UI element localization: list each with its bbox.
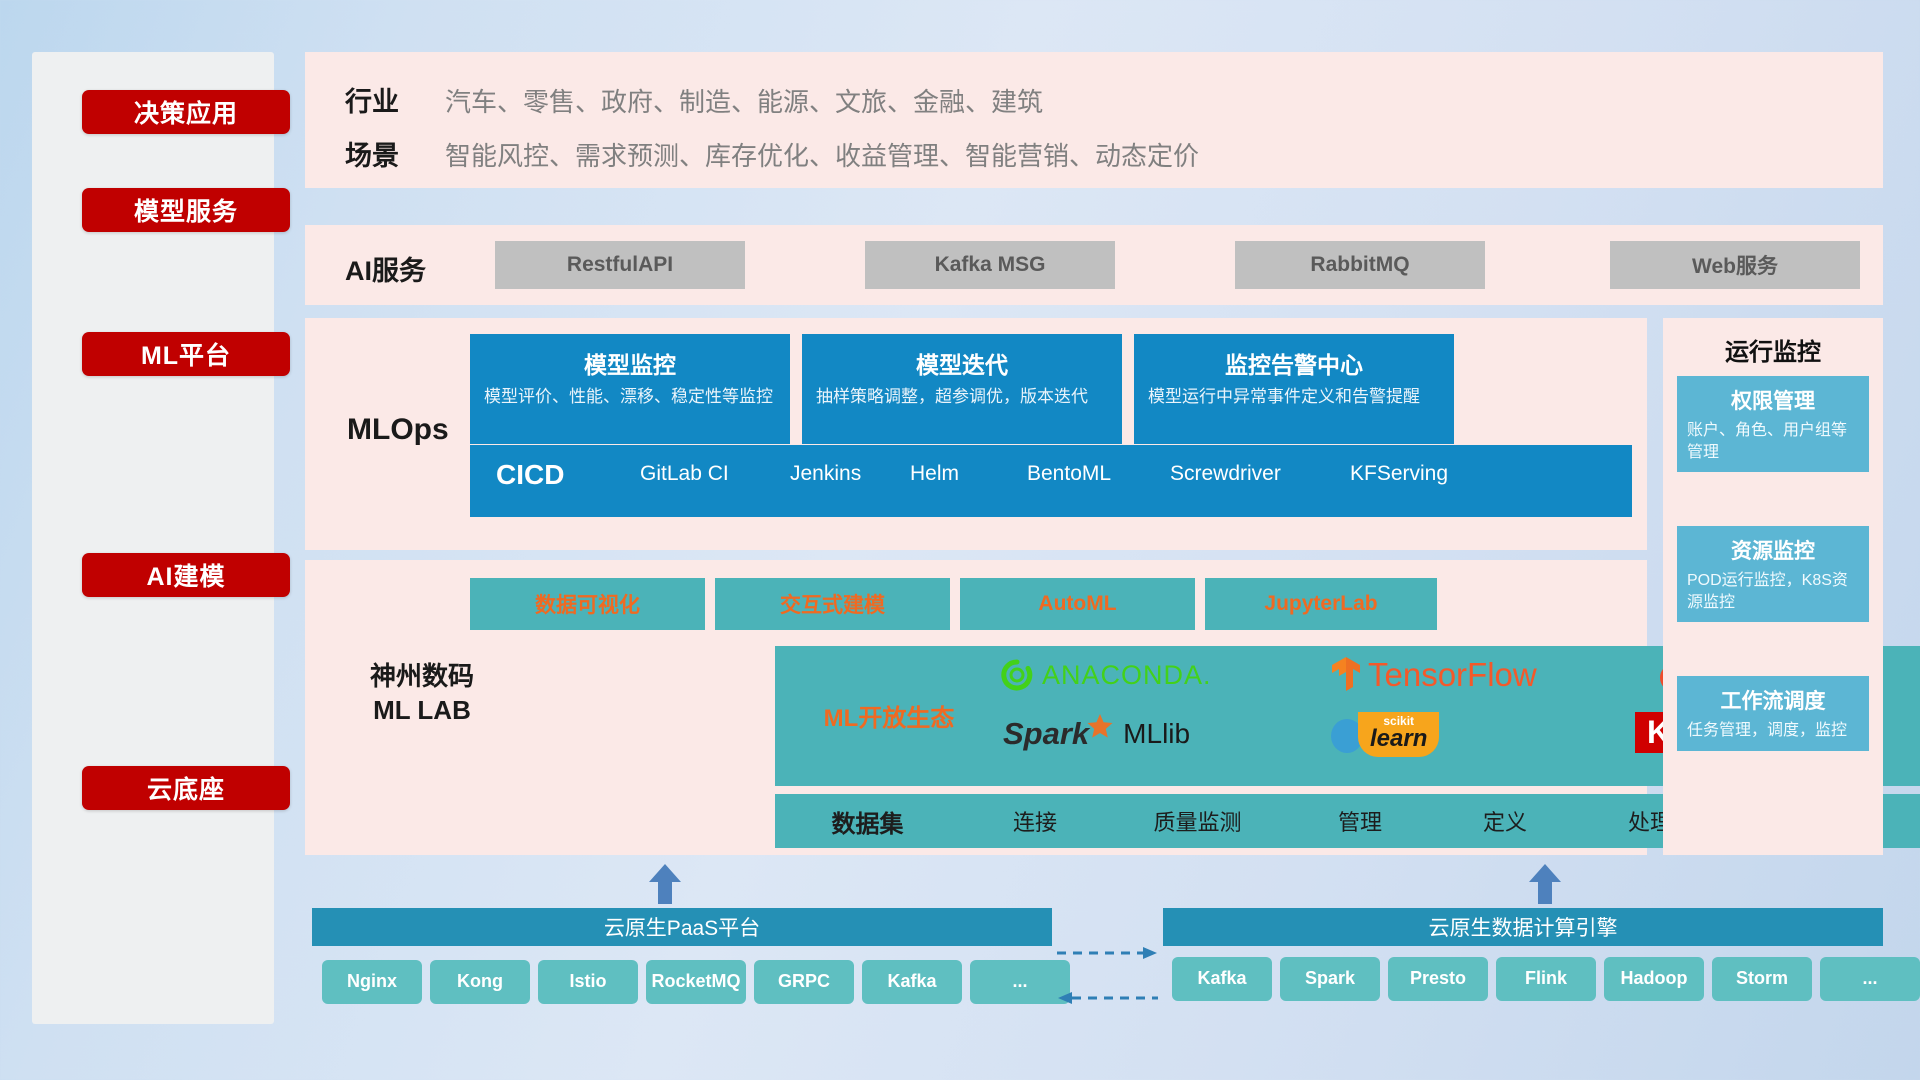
compute-chip-more[interactable]: ... xyxy=(1820,957,1920,1001)
monitoring-card-permissions[interactable]: 权限管理 账户、角色、用户组等管理 xyxy=(1677,376,1869,472)
dataset-item-quality[interactable]: 质量监测 xyxy=(1110,805,1285,837)
compute-chip-spark[interactable]: Spark xyxy=(1280,957,1380,1001)
card-desc: POD运行监控，K8S资源监控 xyxy=(1677,570,1869,622)
cicd-title: CICD xyxy=(496,459,564,491)
up-arrow-paas-icon xyxy=(645,862,685,906)
spark-text: Spark xyxy=(1003,716,1089,752)
sidebar-item-ai-modeling[interactable]: AI建模 xyxy=(82,553,290,597)
compute-chip-storm[interactable]: Storm xyxy=(1712,957,1812,1001)
learn-text: learn xyxy=(1370,725,1427,753)
dataset-item-manage[interactable]: 管理 xyxy=(1285,805,1435,837)
card-desc: 模型评价、性能、漂移、稳定性等监控 xyxy=(470,386,790,409)
spark-logo: Spark MLlib xyxy=(1003,716,1190,752)
ai-service-panel: AI服务 RestfulAPI Kafka MSG RabbitMQ Web服务 xyxy=(305,225,1883,305)
sidebar-label: 模型服务 xyxy=(134,192,238,228)
ai-service-button-kafka-msg[interactable]: Kafka MSG xyxy=(865,241,1115,289)
cicd-item-gitlab-ci[interactable]: GitLab CI xyxy=(640,461,745,487)
card-title: 模型监控 xyxy=(470,334,790,386)
paas-chip-kong[interactable]: Kong xyxy=(430,960,530,1004)
card-title: 模型迭代 xyxy=(802,334,1122,386)
paas-chip-grpc[interactable]: GRPC xyxy=(754,960,854,1004)
industry-row-label: 行业 xyxy=(345,80,399,119)
tab-automl[interactable]: AutoML xyxy=(960,578,1195,630)
paas-platform-bar: 云原生PaaS平台 xyxy=(312,908,1052,946)
tab-jupyterlab[interactable]: JupyterLab xyxy=(1205,578,1437,630)
ai-service-button-restfulapi[interactable]: RestfulAPI xyxy=(495,241,745,289)
mlops-card-alert-center[interactable]: 监控告警中心 模型运行中异常事件定义和告警提醒 xyxy=(1134,334,1454,444)
scenario-row-value: 智能风控、需求预测、库存优化、收益管理、智能营销、动态定价 xyxy=(445,136,1199,173)
sidebar-label: AI建模 xyxy=(146,557,225,593)
paas-chip-istio[interactable]: Istio xyxy=(538,960,638,1004)
cicd-item-jenkins[interactable]: Jenkins xyxy=(790,461,895,487)
dataset-label: 数据集 xyxy=(775,804,960,839)
compute-chip-presto[interactable]: Presto xyxy=(1388,957,1488,1001)
industry-row-value: 汽车、零售、政府、制造、能源、文旅、金融、建筑 xyxy=(445,82,1043,119)
cicd-bar: CICD GitLab CI Jenkins Helm BentoML Scre… xyxy=(470,445,1632,517)
card-desc: 模型运行中异常事件定义和告警提醒 xyxy=(1134,386,1454,409)
paas-chip-nginx[interactable]: Nginx xyxy=(322,960,422,1004)
ml-lab-panel: 神州数码 ML LAB 数据可视化 交互式建模 AutoML JupyterLa… xyxy=(305,560,1647,855)
layer-rail: 决策应用 模型服务 ML平台 AI建模 云底座 xyxy=(32,52,274,1024)
cicd-item-bentoml[interactable]: BentoML xyxy=(1027,461,1132,487)
compute-chip-hadoop[interactable]: Hadoop xyxy=(1604,957,1704,1001)
ml-lab-label: 神州数码 ML LAB xyxy=(327,660,517,728)
compute-chip-row: Kafka Spark Presto Flink Hadoop Storm ..… xyxy=(1172,957,1920,1001)
mlops-card-model-iteration[interactable]: 模型迭代 抽样策略调整，超参调优，版本迭代 xyxy=(802,334,1122,444)
card-desc: 账户、角色、用户组等管理 xyxy=(1677,420,1869,472)
data-compute-engine-bar: 云原生数据计算引擎 xyxy=(1163,908,1883,946)
monitoring-card-workflow[interactable]: 工作流调度 任务管理，调度，监控 xyxy=(1677,676,1869,751)
compute-chip-flink[interactable]: Flink xyxy=(1496,957,1596,1001)
mlops-label: MLOps xyxy=(347,413,449,447)
compute-chip-kafka[interactable]: Kafka xyxy=(1172,957,1272,1001)
ml-lab-label-en: ML LAB xyxy=(327,694,517,728)
card-title: 工作流调度 xyxy=(1677,676,1869,720)
tensorflow-text: TensorFlow xyxy=(1368,656,1537,694)
paas-chip-rocketmq[interactable]: RocketMQ xyxy=(646,960,746,1004)
cicd-item-screwdriver[interactable]: Screwdriver xyxy=(1170,461,1300,487)
card-title: 权限管理 xyxy=(1677,376,1869,420)
ml-lab-label-cn: 神州数码 xyxy=(327,660,517,694)
sidebar-item-ml-platform[interactable]: ML平台 xyxy=(82,332,290,376)
anaconda-text: ANACONDA. xyxy=(1042,660,1212,691)
ml-ecosystem-label: ML开放生态 xyxy=(799,698,979,733)
monitoring-title: 运行监控 xyxy=(1663,332,1883,367)
card-title: 监控告警中心 xyxy=(1134,334,1454,386)
dataset-item-connect[interactable]: 连接 xyxy=(960,805,1110,837)
tab-interactive-modeling[interactable]: 交互式建模 xyxy=(715,578,950,630)
up-arrow-compute-icon xyxy=(1525,862,1565,906)
sidebar-label: 云底座 xyxy=(147,770,225,806)
sidebar-label: 决策应用 xyxy=(134,94,238,130)
arrow-left-dashed-icon xyxy=(1055,990,1160,1006)
cicd-item-kfserving[interactable]: KFServing xyxy=(1350,461,1475,487)
runtime-monitoring-panel: 运行监控 权限管理 账户、角色、用户组等管理 资源监控 POD运行监控，K8S资… xyxy=(1663,318,1883,855)
tensorflow-logo: TensorFlow xyxy=(1330,656,1537,694)
anaconda-logo: ANACONDA. xyxy=(1000,658,1212,692)
scikit-learn-logo: scikit learn xyxy=(1330,712,1439,757)
paas-chip-row: Nginx Kong Istio RocketMQ GRPC Kafka ... xyxy=(322,960,1070,1004)
sidebar-item-cloud-base[interactable]: 云底座 xyxy=(82,766,290,810)
ai-service-button-web-service[interactable]: Web服务 xyxy=(1610,241,1860,289)
arrow-right-dashed-icon xyxy=(1055,945,1160,961)
sidebar-label: ML平台 xyxy=(141,336,231,372)
industry-scenario-panel: 行业 汽车、零售、政府、制造、能源、文旅、金融、建筑 场景 智能风控、需求预测、… xyxy=(305,52,1883,188)
card-title: 资源监控 xyxy=(1677,526,1869,570)
tab-data-visualization[interactable]: 数据可视化 xyxy=(470,578,705,630)
mlops-card-model-monitoring[interactable]: 模型监控 模型评价、性能、漂移、稳定性等监控 xyxy=(470,334,790,444)
paas-chip-kafka[interactable]: Kafka xyxy=(862,960,962,1004)
card-desc: 任务管理，调度，监控 xyxy=(1677,720,1869,751)
cicd-item-helm[interactable]: Helm xyxy=(910,461,1015,487)
dataset-item-define[interactable]: 定义 xyxy=(1435,805,1575,837)
ai-service-button-rabbitmq[interactable]: RabbitMQ xyxy=(1235,241,1485,289)
mllib-text: MLlib xyxy=(1123,718,1190,750)
sidebar-item-decision-app[interactable]: 决策应用 xyxy=(82,90,290,134)
card-desc: 抽样策略调整，超参调优，版本迭代 xyxy=(802,386,1122,409)
architecture-diagram: 决策应用 模型服务 ML平台 AI建模 云底座 行业 汽车、零售、政府、制造、能… xyxy=(0,0,1920,1080)
monitoring-card-resources[interactable]: 资源监控 POD运行监控，K8S资源监控 xyxy=(1677,526,1869,622)
scenario-row-label: 场景 xyxy=(345,134,399,173)
sidebar-item-model-service[interactable]: 模型服务 xyxy=(82,188,290,232)
ai-service-label: AI服务 xyxy=(345,249,426,288)
